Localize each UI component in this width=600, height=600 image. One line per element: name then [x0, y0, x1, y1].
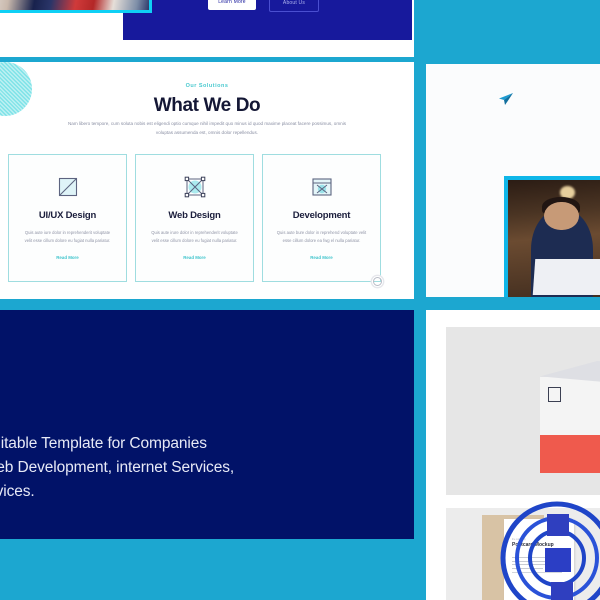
navy-line-3: ervices. [0, 480, 414, 504]
service-card-list: UI/UX Design Quis aute iure dolor in rep… [8, 154, 381, 282]
navy-line-2: Web Development, internet Services, [0, 456, 414, 480]
hero-photo-image [0, 0, 149, 10]
divider-horizontal-left-bottom [0, 299, 414, 310]
page-title: What We Do [0, 95, 414, 117]
service-card-text: Quis aute iure dolor in reprehenderit vo… [22, 229, 114, 246]
divider-right-middle [426, 297, 600, 310]
divider-vertical-center [414, 0, 426, 600]
development-icon [309, 174, 335, 200]
team-photo [504, 176, 600, 297]
box-3d: Box box mockup MU MOCK-UP [514, 357, 600, 473]
about-us-button[interactable]: About Us [269, 0, 319, 12]
circular-logo-watermark-svg [495, 498, 600, 600]
navy-text-panel: k Suitable Template for Companies Web De… [0, 310, 414, 539]
team-photo-panel [426, 64, 600, 297]
navy-paragraph: Suitable Template for Companies Web Deve… [0, 432, 414, 504]
box-front-red-band [540, 435, 600, 473]
hero-photo [0, 0, 152, 13]
hero-panel: Learn More About Us [0, 0, 414, 57]
service-card-title: Web Design [168, 210, 220, 221]
read-more-link[interactable]: Read More [310, 255, 332, 260]
what-we-do-panel: Our Solutions What We Do Nam libero temp… [0, 62, 414, 299]
divider-bottom-strip [0, 539, 414, 600]
team-photo-image [508, 180, 600, 297]
service-card-title: UI/UX Design [39, 210, 96, 221]
read-more-link[interactable]: Read More [183, 255, 205, 260]
box-mockup-image: Box box mockup MU MOCK-UP [446, 327, 600, 495]
paper-plane-icon [498, 92, 514, 106]
service-card-ui-ux[interactable]: UI/UX Design Quis aute iure dolor in rep… [8, 154, 127, 282]
photo-person-left-head [544, 202, 578, 231]
slideshow-stage: Learn More About Us Our Solutions What W… [0, 0, 600, 600]
learn-more-button[interactable]: Learn More [208, 0, 256, 10]
ui-ux-design-icon [55, 174, 81, 200]
section-eyebrow: Our Solutions [0, 83, 414, 89]
gear-dot-decoration [373, 277, 382, 286]
service-card-development[interactable]: Development Quis aute bure dolor in repr… [262, 154, 381, 282]
service-card-web-design[interactable]: Web Design Quis aute irure dolor in repr… [135, 154, 254, 282]
service-card-text: Quis aute irure dolor in reprehenderit v… [149, 229, 241, 246]
divider-right-top [426, 0, 600, 64]
service-card-title: Development [293, 210, 350, 221]
hero-button-group: Learn More About Us [208, 0, 319, 12]
box-square-mark [548, 387, 561, 402]
section-subtitle: Nam libero tempore, cum soluta nobis est… [60, 120, 354, 138]
read-more-link[interactable]: Read More [56, 255, 78, 260]
service-card-text: Quis aute bure dolor in reprehend volupt… [276, 229, 368, 246]
web-design-icon [182, 174, 208, 200]
navy-line-1: Suitable Template for Companies [0, 432, 414, 456]
photo-laptop [533, 259, 600, 295]
